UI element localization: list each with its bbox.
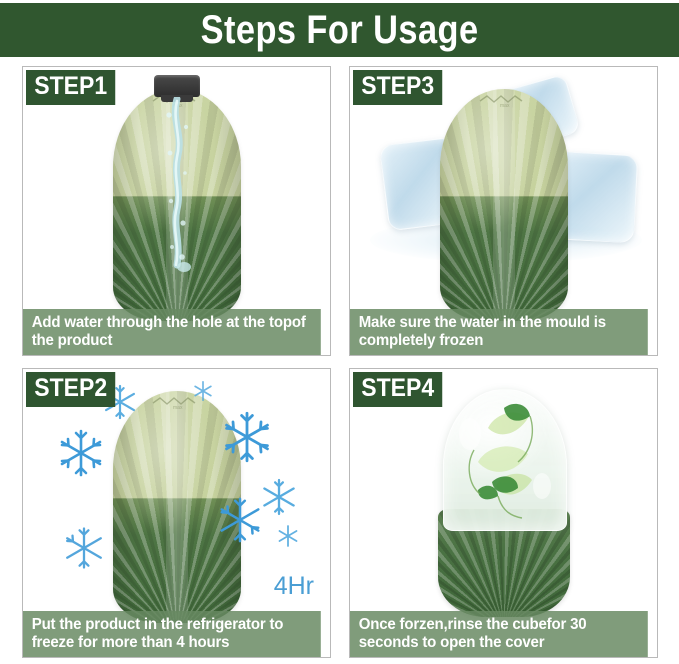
max-fill-mark: max [478,93,530,107]
snowflake-icon [275,523,301,554]
svg-text:max: max [500,103,510,107]
page-title: Steps For Usage [201,10,479,50]
snowflake-icon [219,409,275,470]
step-panel-4: STEP4 Once forzen,rinse the cubefor 30 s… [349,368,658,658]
step-badge: STEP2 [26,372,115,407]
step-caption: Add water through the hole at the topof … [23,309,321,355]
snowflake-icon [191,379,215,408]
header-banner: Steps For Usage [0,3,679,57]
snowflake-icon [215,495,265,550]
snowflake-icon [61,525,107,576]
cap-icon [154,75,200,97]
step-badge: STEP1 [26,70,115,105]
water-stream-icon [157,97,199,293]
ice-dome-icon [443,389,567,531]
svg-text:max: max [173,405,183,409]
mint-leaf-icon [444,390,566,530]
step-panel-1: max [22,66,331,356]
step-caption: Put the product in the refrigerator to f… [23,611,321,657]
snowflake-icon [259,477,299,522]
freeze-time-label: 4Hr [274,572,314,601]
step-panel-3: max STEP3 Make sure the water in the mou… [349,66,658,356]
step-badge: STEP3 [353,70,442,105]
step-caption: Once forzen,rinse the cubefor 30 seconds… [350,611,648,657]
snowflake-icon [55,427,107,484]
step-panel-2: max [22,368,331,658]
step-badge: STEP4 [353,372,442,407]
mould-sheen [440,89,568,321]
infographic-page: Steps For Usage max [0,0,679,664]
steps-grid: max [22,66,658,658]
ice-mould-graphic [440,89,568,321]
step-caption: Make sure the water in the mould is comp… [350,309,648,355]
